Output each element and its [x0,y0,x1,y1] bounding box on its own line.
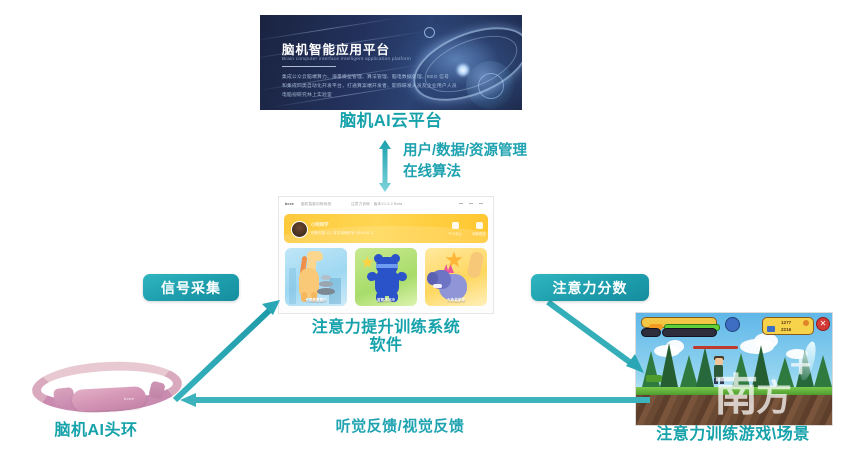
bear-headband [376,264,398,268]
hud-attention-meter [725,317,740,332]
banner-body-text: 集成公众云脑端算力、海量模型管理、算法管理、脑电数据处理、EEG 信号 和集成四… [282,73,467,100]
vertical-double-arrow-icon [378,140,392,192]
label-feedback: 听觉反馈/视觉反馈 [290,418,510,435]
cloud-platform-banner-image: 脑机智能应用平台 Brain computer interface intell… [260,15,522,110]
action-report[interactable]: 训练报告 [468,222,488,236]
giraffe-head [307,251,323,261]
software-brand: bcee [285,202,294,206]
hud-coin-icon [767,326,775,332]
giraffe-silhouette [466,251,484,279]
software-user-card: 小明同学 训练天数 12 | 本次训练时长 00:24:31 3 个人中心 训练… [284,214,488,243]
cloud-link-label: 用户/数据/资源管理 在线算法 [403,141,618,183]
badge-signal-acquisition: 信号采集 [143,274,239,301]
software-titlebar: bcee 脑机智能训练系统 注意力训练 · 版本V1.0.2 Beta [279,197,493,212]
user-meta: 训练天数 12 | 本次训练时长 00:24:31 3 [311,231,373,236]
orbit-dot [424,27,435,38]
label-headband: 脑机AI头环 [16,422,176,440]
action-profile[interactable]: 个人中心 [444,222,466,236]
avatar [291,221,308,238]
user-icon [452,222,459,229]
hud-trophy-icon [803,320,809,326]
badge-attention-score: 注意力分数 [531,274,649,301]
hud-score-panel: 1277 2216 [762,317,814,335]
star-shape [445,251,463,269]
label-game: 注意力训练游戏\场景 [628,426,838,444]
watermark-char: + [788,347,813,382]
watermark-char: 南 [714,359,758,423]
maximize-icon[interactable] [469,203,473,204]
hud-score-value: 1277 [781,320,791,325]
arrow-software-to-game [548,302,644,373]
hud-secondary-fill [693,346,738,349]
watermark-char: 方 [756,369,792,421]
close-icon[interactable] [479,203,483,204]
label-cloud-platform: 脑机AI云平台 [308,112,474,131]
software-title-text-2: 注意力训练 · 版本V1.0.2 Beta [351,202,402,207]
user-name: 小明同学 [311,222,329,228]
close-icon[interactable]: ✕ [816,317,830,331]
diagram-canvas: 脑机智能应用平台 Brain computer interface intell… [0,0,856,475]
report-icon [476,222,483,229]
arrow-headband-to-software [175,300,280,400]
star-shape [361,256,374,269]
hud-coin-value: 2216 [781,327,791,332]
arrow-game-to-headband [180,392,650,408]
banner-divider [282,66,336,67]
minimize-icon[interactable] [459,203,463,204]
hud-secondary-bar [662,328,717,337]
banner-subtitle: Brain computer interface intelligent app… [282,56,411,61]
software-title-text-1: 脑机智能训练系统 [301,202,331,207]
